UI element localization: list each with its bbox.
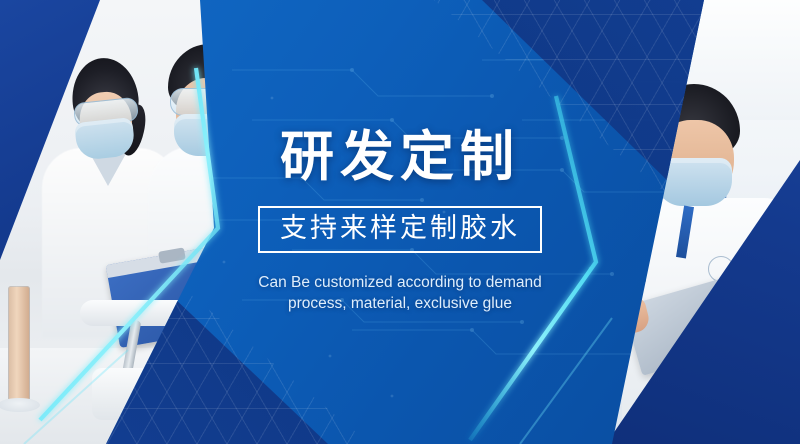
cylinder-base bbox=[0, 398, 40, 412]
promo-banner: 研发定制 支持来样定制胶水 Can Be customized accordin… bbox=[0, 0, 800, 444]
graduated-cylinder bbox=[8, 286, 30, 404]
